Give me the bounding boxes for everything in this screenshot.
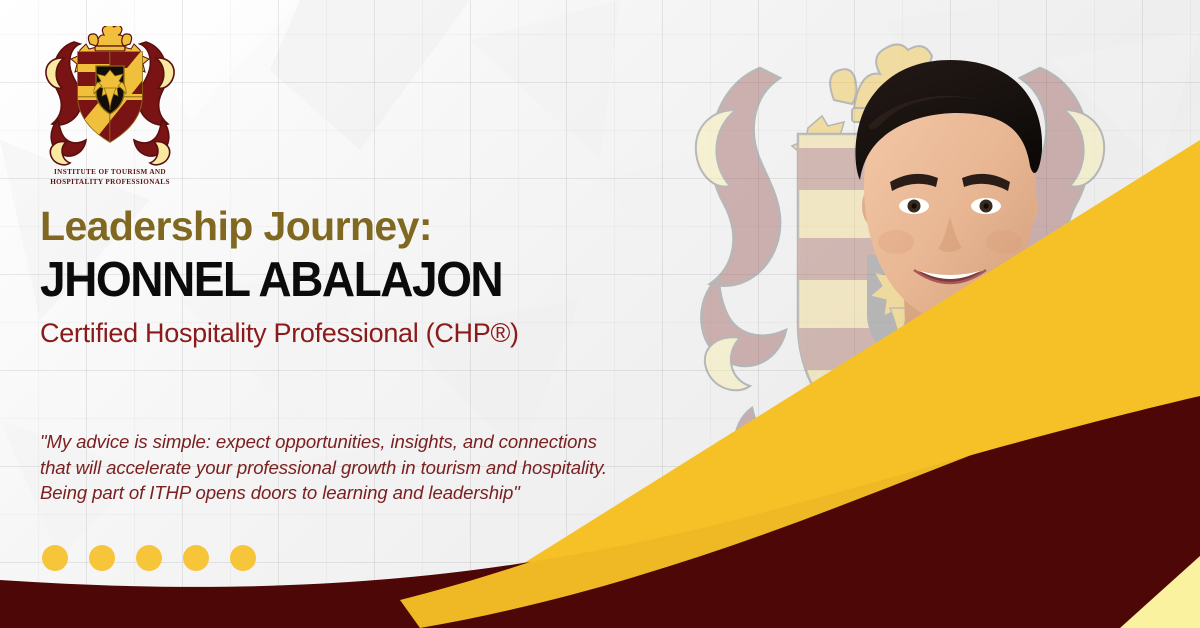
person-name: JHONNEL ABALAJON (40, 256, 604, 306)
gold-dot-4 (183, 545, 209, 571)
logo-org-line2: HOSPITALITY PROFESSIONALS (34, 178, 186, 188)
gold-dot-2 (89, 545, 115, 571)
logo-organization-text: INSTITUTE OF TOURISM AND HOSPITALITY PRO… (34, 168, 186, 187)
ithp-crest-icon (34, 26, 186, 166)
eyebrow-text: Leadership Journey: (40, 205, 640, 248)
gold-dot-5 (230, 545, 256, 571)
gold-dots-row (42, 545, 256, 571)
credential-text: Certified Hospitality Professional (CHP®… (40, 319, 640, 349)
gold-dot-3 (136, 545, 162, 571)
banner-root: INSTITUTE OF TOURISM AND HOSPITALITY PRO… (0, 0, 1200, 628)
logo-org-line1: INSTITUTE OF TOURISM AND (34, 168, 186, 178)
quote-text: "My advice is simple: expect opportuniti… (40, 429, 620, 506)
headline-block: Leadership Journey: JHONNEL ABALAJON Cer… (40, 205, 640, 349)
portrait-photo (700, 30, 1180, 628)
ithp-logo: INSTITUTE OF TOURISM AND HOSPITALITY PRO… (34, 26, 186, 194)
gold-dot-1 (42, 545, 68, 571)
